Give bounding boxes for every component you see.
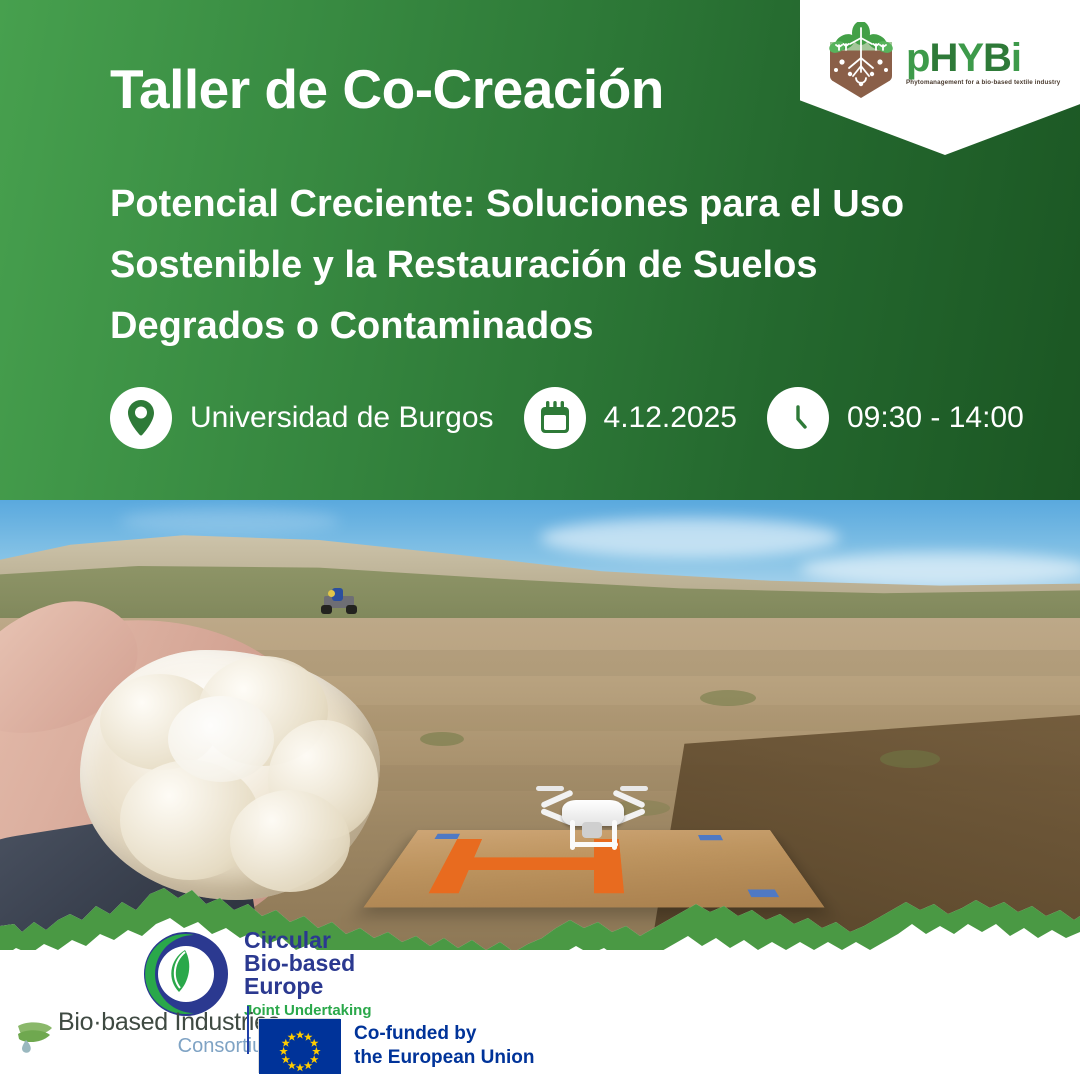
subtitle-line-3: Degrados o Contaminados: [110, 296, 940, 357]
calendar-icon: [524, 387, 586, 449]
header-banner: Taller de Co-Creación Potencial Crecient…: [0, 0, 1080, 500]
photo-atv: [318, 588, 360, 614]
event-details-row: Universidad de Burgos 4.12.2025: [110, 387, 1024, 449]
phybi-wordmark: pHYBi Phytomanagement for a bio-based te…: [906, 39, 1060, 86]
event-date: 4.12.2025: [524, 387, 737, 449]
photo-shrub: [700, 690, 756, 706]
eu-flag-icon: [258, 1018, 340, 1073]
phybi-shield-icon: [822, 22, 900, 102]
phybi-tagline: Phytomanagement for a bio-based textile …: [906, 79, 1060, 86]
event-date-text: 4.12.2025: [604, 401, 737, 435]
location-pin-icon: [110, 387, 172, 449]
photo-gypsum-rock: [80, 650, 380, 900]
eu-line-1: Co-funded by: [354, 1022, 535, 1046]
phybi-wordmark-text: pHYBi: [906, 36, 1021, 80]
page-subtitle: Potencial Creciente: Soluciones para el …: [110, 174, 940, 357]
photo-cloud: [540, 518, 840, 558]
eu-funding-text: Co-funded by the European Union: [354, 1022, 535, 1070]
subtitle-line-2: Sostenible y la Restauración de Suelos: [110, 235, 940, 296]
event-location-text: Universidad de Burgos: [190, 401, 494, 435]
footer-logos: Circular Bio-based Europe Joint Undertak…: [0, 950, 1080, 1080]
cbe-line-3: Europe: [244, 975, 372, 998]
footer-divider: [247, 1006, 249, 1054]
photo-cloud: [800, 552, 1080, 586]
eu-line-2: the European Union: [354, 1046, 535, 1070]
photo-drone: [538, 780, 648, 854]
bbi-logo: Bio·based Industries Consortium: [14, 1010, 280, 1056]
cbe-line-2: Bio-based: [244, 952, 372, 975]
event-time-text: 09:30 - 14:00: [847, 401, 1024, 435]
event-location: Universidad de Burgos: [110, 387, 494, 449]
page-title: Taller de Co-Creación: [110, 57, 664, 121]
poster-canvas: Taller de Co-Creación Potencial Crecient…: [0, 0, 1080, 1080]
phybi-logo: pHYBi Phytomanagement for a bio-based te…: [822, 22, 1060, 102]
subtitle-line-1: Potencial Creciente: Soluciones para el …: [110, 174, 940, 235]
cbe-line-1: Circular: [244, 929, 372, 952]
photo-cloud: [120, 508, 340, 534]
phybi-logo-banner: pHYBi Phytomanagement for a bio-based te…: [800, 0, 1080, 155]
photo-shrub: [880, 750, 940, 768]
cbe-wordmark: Circular Bio-based Europe Joint Undertak…: [244, 929, 372, 1019]
eu-funding-logo: Co-funded by the European Union: [258, 1018, 535, 1073]
event-time: 09:30 - 14:00: [767, 387, 1024, 449]
photo-shrub: [420, 732, 464, 746]
clock-icon: [767, 387, 829, 449]
bbi-leaf-droplet-icon: [14, 1016, 56, 1056]
